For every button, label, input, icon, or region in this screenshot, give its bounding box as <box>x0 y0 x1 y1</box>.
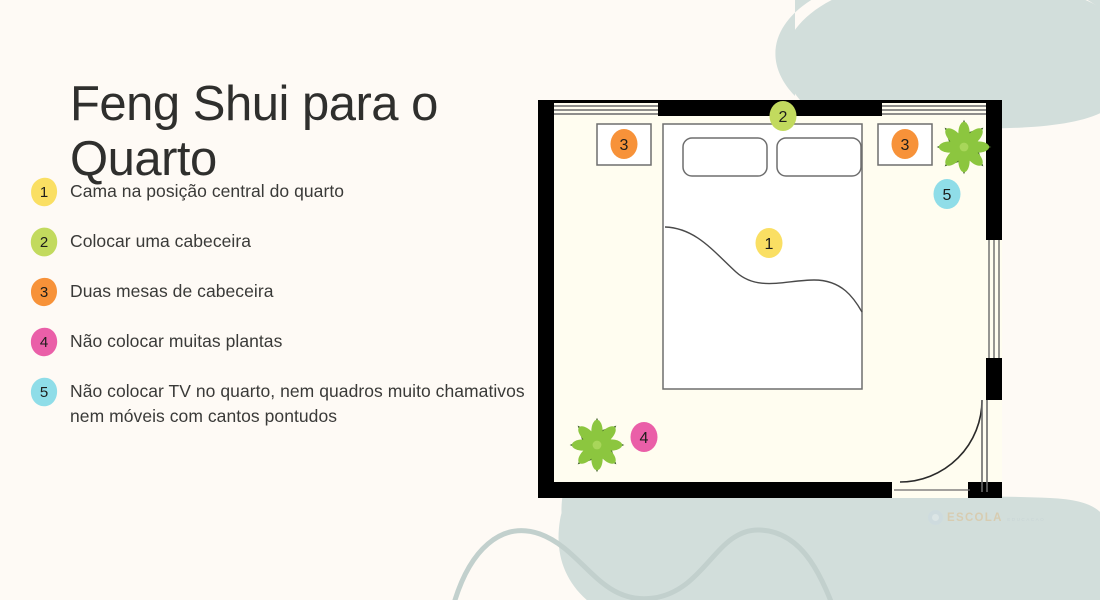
brand-watermark: ESCOLA EDUCACAO <box>928 508 1045 526</box>
plan-marker-4-number: 4 <box>640 430 649 447</box>
tip-number-2: 2 <box>30 227 58 257</box>
tip-badge-1: 1 <box>30 177 58 207</box>
decor-blob-top-right <box>775 0 1100 100</box>
floorplan: 2 3 3 5 1 4 <box>538 100 1002 498</box>
tip-badge-5: 5 <box>30 377 58 407</box>
window-top-left <box>554 103 658 116</box>
brand-name: ESCOLA <box>947 512 1003 524</box>
plan-marker-4: 4 <box>631 422 658 452</box>
pillow-icon <box>777 138 861 176</box>
tip-label-5: Não colocar TV no quarto, nem quadros mu… <box>70 376 530 429</box>
plan-marker-3-left: 3 <box>611 129 638 159</box>
tip-label-2: Colocar uma cabeceira <box>70 226 251 254</box>
content-column: Feng Shui para o Quarto 1 Cama na posiçã… <box>0 0 530 600</box>
tip-badge-3: 3 <box>30 277 58 307</box>
plan-marker-2-number: 2 <box>779 109 788 126</box>
tip-label-4: Não colocar muitas plantas <box>70 326 282 354</box>
plan-marker-1: 1 <box>756 228 783 258</box>
plan-marker-3-right: 3 <box>892 129 919 159</box>
plan-marker-1-number: 1 <box>765 236 774 253</box>
list-item: 1 Cama na posição central do quarto <box>30 176 530 207</box>
pillow-icon <box>683 138 767 176</box>
tip-label-1: Cama na posição central do quarto <box>70 176 344 204</box>
tip-badge-2: 2 <box>30 227 58 257</box>
window-right <box>986 240 1002 358</box>
tip-badge-4: 4 <box>30 327 58 357</box>
plan-marker-3-right-number: 3 <box>901 137 910 154</box>
page-title: Feng Shui para o Quarto <box>70 77 510 187</box>
tip-number-3: 3 <box>30 277 58 307</box>
brand-subtitle: EDUCACAO <box>1007 517 1045 522</box>
plan-marker-2: 2 <box>770 101 797 131</box>
list-item: 3 Duas mesas de cabeceira <box>30 276 530 307</box>
tip-number-4: 4 <box>30 327 58 357</box>
window-top-right <box>882 103 986 116</box>
tip-label-3: Duas mesas de cabeceira <box>70 276 273 304</box>
succulent-icon <box>570 418 625 473</box>
brand-text: ESCOLA EDUCACAO <box>947 508 1045 526</box>
succulent-icon <box>937 120 992 175</box>
floorplan-svg: 2 3 3 5 1 4 <box>538 100 1002 498</box>
slide-canvas: Feng Shui para o Quarto 1 Cama na posiçã… <box>0 0 1100 600</box>
brand-mark-icon <box>928 510 943 525</box>
decor-blob-bottom-right-2 <box>559 490 1100 600</box>
list-item: 5 Não colocar TV no quarto, nem quadros … <box>30 376 530 429</box>
list-item: 4 Não colocar muitas plantas <box>30 326 530 357</box>
plan-marker-5-number: 5 <box>943 187 952 204</box>
tips-list: 1 Cama na posição central do quarto 2 Co… <box>30 176 530 448</box>
plan-marker-5: 5 <box>934 179 961 209</box>
tip-number-1: 1 <box>30 177 58 207</box>
list-item: 2 Colocar uma cabeceira <box>30 226 530 257</box>
tip-number-5: 5 <box>30 377 58 407</box>
plan-marker-3-left-number: 3 <box>620 137 629 154</box>
bed-icon <box>663 124 862 389</box>
